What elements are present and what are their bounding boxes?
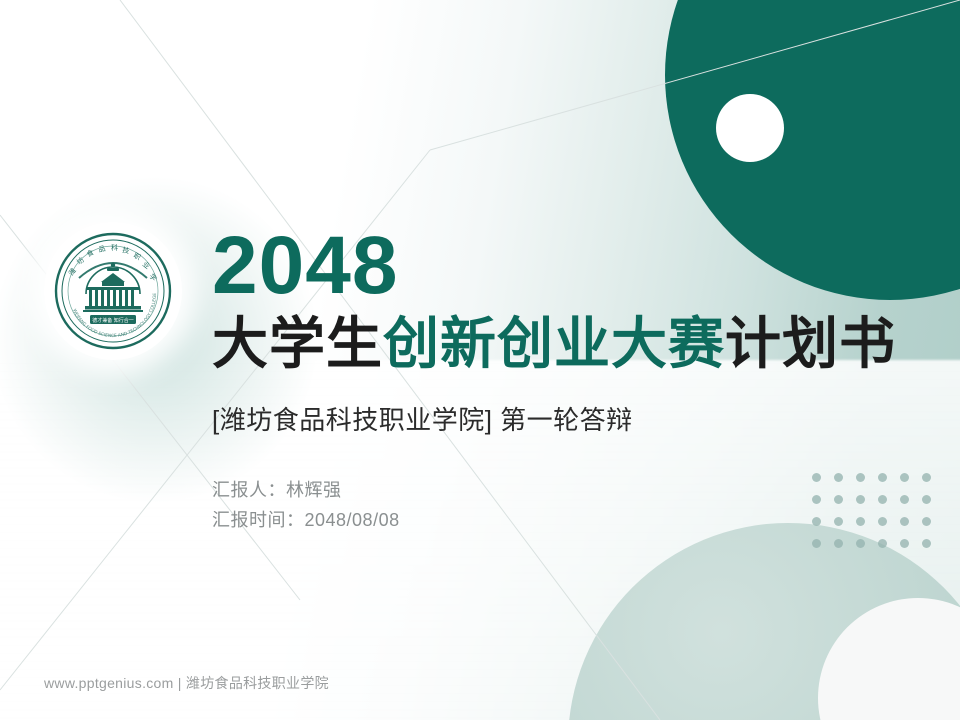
date-line: 汇报时间：2048/08/08 — [212, 505, 912, 535]
svg-text:德才兼备 知行合一: 德才兼备 知行合一 — [92, 317, 134, 324]
headline-segment-1: 大学生 — [212, 312, 383, 375]
title-block: 2048 大学生创新创业大赛计划书 [潍坊食品科技职业学院] 第一轮答辩 汇报人… — [212, 225, 912, 535]
svg-text:科: 科 — [111, 243, 118, 252]
headline-segment-2: 创新创业大赛 — [383, 312, 725, 375]
school-emblem-icon: 潍 坊 食 品 科 技 职 业 学 — [54, 232, 172, 350]
year-number: 2048 — [212, 225, 912, 307]
presenter-line: 汇报人：林辉强 — [212, 475, 912, 505]
footer-text: www.pptgenius.com | 潍坊食品科技职业学院 — [44, 673, 329, 693]
school-logo: 潍 坊 食 品 科 技 职 业 学 — [44, 222, 182, 360]
subtitle: [潍坊食品科技职业学院] 第一轮答辩 — [212, 403, 912, 437]
decorative-circle-white-top — [716, 94, 784, 162]
headline: 大学生创新创业大赛计划书 — [212, 313, 912, 375]
meta-block: 汇报人：林辉强 汇报时间：2048/08/08 — [212, 475, 912, 535]
headline-segment-3: 计划书 — [725, 312, 896, 375]
presentation-slide: 潍 坊 食 品 科 技 职 业 学 — [0, 0, 960, 720]
